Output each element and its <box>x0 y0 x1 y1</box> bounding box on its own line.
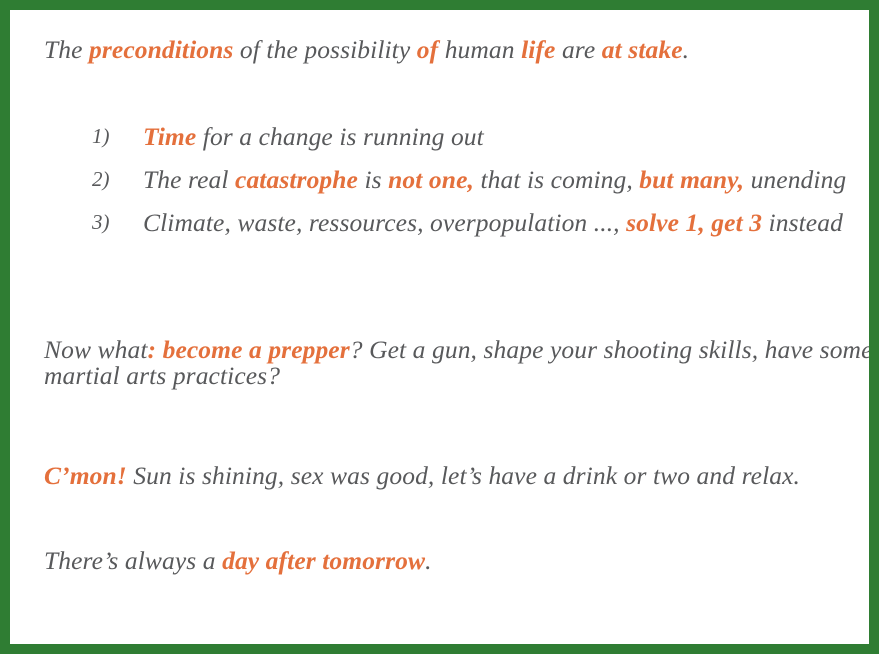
list-item-text-1: Climate, waste, ressources, overpopulati… <box>143 208 626 237</box>
presentation-slide: The preconditions of the possibility of … <box>0 0 879 654</box>
list-item: 1) Time for a change is running out <box>44 124 864 154</box>
paragraph-cmon-text: C’mon! Sun is shining, sex was good, let… <box>44 463 874 489</box>
list-item-text-rest: for a change is running out <box>196 122 484 151</box>
headline-highlight-preconditions: preconditions <box>89 35 233 64</box>
list-item-marker: 2) <box>92 169 110 190</box>
paragraph-tomorrow-text: There’s always a day after tomorrow. <box>44 548 874 574</box>
list-item-text-1: The real <box>143 165 235 194</box>
paragraph-prepper-text: Now what: become a prepper? Get a gun, s… <box>44 337 874 388</box>
headline-line: The preconditions of the possibility of … <box>44 37 689 63</box>
tomorrow-highlight-day-after-tomorrow: day after tomorrow <box>222 546 425 575</box>
paragraph-cmon: C’mon! Sun is shining, sex was good, let… <box>44 463 874 489</box>
headline-text-3: human <box>438 35 521 64</box>
list-item-highlight-catastrophe: catastrophe <box>235 165 358 194</box>
list-item-text: Time for a change is running out <box>143 122 484 151</box>
headline-highlight-of: of <box>417 35 438 64</box>
list-item-highlight-solve-get: solve 1, get 3 <box>626 208 762 237</box>
list-item-text-4: unending <box>744 165 846 194</box>
cmon-highlight: C’mon! <box>44 461 127 490</box>
headline-text-4: are <box>555 35 601 64</box>
list-item-marker: 3) <box>92 212 110 233</box>
tomorrow-text-1: There’s always a <box>44 546 222 575</box>
list-item-marker: 1) <box>92 126 110 147</box>
headline-highlight-life: life <box>521 35 555 64</box>
paragraph-tomorrow: There’s always a day after tomorrow. <box>44 548 874 574</box>
list-item-text-2: is <box>358 165 388 194</box>
paragraph-prepper: Now what: become a prepper? Get a gun, s… <box>44 337 874 388</box>
list-item-highlight-not-one: not one, <box>388 165 474 194</box>
slide-canvas: The preconditions of the possibility of … <box>10 10 869 644</box>
list-item: 2) The real catastrophe is not one, that… <box>44 167 864 197</box>
list-item-text: Climate, waste, ressources, overpopulati… <box>143 208 843 237</box>
list-item: 3) Climate, waste, ressources, overpopul… <box>44 210 864 240</box>
headline-text-5: . <box>683 35 689 64</box>
list-item-highlight-but-many: but many, <box>639 165 744 194</box>
headline-text-2: of the possibility <box>233 35 416 64</box>
list-item-text-2: instead <box>762 208 843 237</box>
headline-highlight-at-stake: at stake <box>602 35 683 64</box>
headline-text-1: The <box>44 35 89 64</box>
list-item-text-3: that is coming, <box>474 165 639 194</box>
list-item-highlight-time: Time <box>143 122 196 151</box>
numbered-list: 1) Time for a change is running out 2) T… <box>44 124 864 240</box>
tomorrow-text-2: . <box>425 546 431 575</box>
cmon-text-1: Sun is shining, sex was good, let’s have… <box>127 461 800 490</box>
list-item-text: The real catastrophe is not one, that is… <box>143 165 846 194</box>
